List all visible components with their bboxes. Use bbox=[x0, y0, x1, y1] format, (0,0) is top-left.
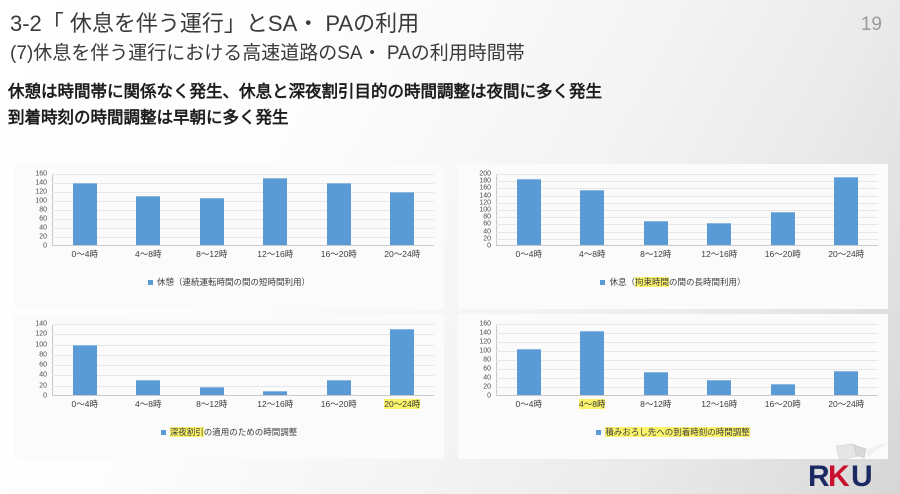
y-tick-label: 140 bbox=[35, 321, 47, 328]
x-tick-label: 4～8時 bbox=[561, 248, 625, 260]
page-subtitle: (7)休息を伴う運行における高速道路のSA・ PAの利用時間帯 bbox=[10, 38, 525, 65]
y-tick-label: 20 bbox=[483, 235, 491, 242]
bar[interactable] bbox=[580, 190, 604, 245]
chart-top-left-plot-area bbox=[52, 174, 434, 246]
y-tick-label: 100 bbox=[479, 348, 491, 355]
page-number: 19 bbox=[861, 14, 882, 36]
chart-bottom-left-legend: 深夜割引の適用のための時間調整 bbox=[14, 426, 444, 438]
y-tick-label: 80 bbox=[483, 357, 491, 364]
x-tick-label: 20～24時 bbox=[371, 398, 435, 410]
y-tick-label: 60 bbox=[39, 362, 47, 369]
chart-bottom-right: 1601401201008060402000～4時4～8時8～12時12～16時… bbox=[458, 314, 888, 459]
bar[interactable] bbox=[390, 192, 414, 245]
svg-text:K: K bbox=[828, 460, 850, 492]
bar[interactable] bbox=[327, 380, 351, 395]
x-tick-label: 0～4時 bbox=[53, 248, 117, 260]
x-tick-label: 0～4時 bbox=[497, 248, 561, 260]
x-axis-line bbox=[496, 245, 878, 246]
chart-top-left-bars bbox=[53, 174, 434, 245]
bar[interactable] bbox=[136, 196, 160, 245]
y-tick-label: 160 bbox=[479, 185, 491, 192]
chart-top-left-x-axis: 0～4時4～8時8～12時12～16時16～20時20～24時 bbox=[53, 248, 434, 260]
x-tick-label: 16～20時 bbox=[307, 398, 371, 410]
chart-bottom-right-bars bbox=[497, 324, 878, 395]
bar[interactable] bbox=[73, 345, 97, 395]
x-tick-label: 0～4時 bbox=[497, 398, 561, 410]
x-tick-label: 0～4時 bbox=[53, 398, 117, 410]
bar-slot bbox=[815, 174, 879, 245]
legend-swatch-icon bbox=[596, 430, 601, 435]
y-tick-label: 0 bbox=[487, 393, 491, 400]
page-title: 3-2「 休息を伴う運行」とSA・ PAの利用 bbox=[10, 6, 419, 38]
chart-panel-bottom-left: 1401201008060402000～4時4～8時8～12時12～16時16～… bbox=[14, 314, 444, 459]
bar-slot bbox=[307, 324, 371, 395]
bar-slot bbox=[497, 324, 561, 395]
chart-bottom-right-x-axis: 0～4時4～8時8～12時12～16時16～20時20～24時 bbox=[497, 398, 878, 410]
chart-top-right-plot-area bbox=[496, 174, 878, 246]
legend-label: 積みおろし先への到着時刻の時間調整 bbox=[605, 426, 750, 438]
y-tick-label: 140 bbox=[479, 330, 491, 337]
bar-slot bbox=[244, 174, 308, 245]
rku-logo: R K U bbox=[806, 442, 894, 492]
x-axis-line bbox=[52, 395, 434, 396]
chart-bottom-right-y-axis: 160140120100806040200 bbox=[460, 324, 494, 396]
chart-bottom-left: 1401201008060402000～4時4～8時8～12時12～16時16～… bbox=[14, 314, 444, 459]
x-tick-label: 12～16時 bbox=[244, 248, 308, 260]
y-tick-label: 40 bbox=[39, 372, 47, 379]
chart-top-right: 2001801601401201008060402000～4時4～8時8～12時… bbox=[458, 164, 888, 309]
bar[interactable] bbox=[263, 391, 287, 395]
chart-top-left-legend: 休憩（連続運転時間の間の短時間利用） bbox=[14, 276, 444, 288]
x-tick-label: 12～16時 bbox=[688, 398, 752, 410]
y-tick-label: 100 bbox=[35, 341, 47, 348]
bar[interactable] bbox=[73, 183, 97, 245]
svg-text:R: R bbox=[808, 460, 830, 492]
bar[interactable] bbox=[136, 380, 160, 395]
svg-text:U: U bbox=[851, 460, 873, 492]
y-tick-label: 20 bbox=[483, 384, 491, 391]
bar-slot bbox=[371, 174, 435, 245]
bar-slot bbox=[53, 174, 117, 245]
bar[interactable] bbox=[263, 178, 287, 245]
y-tick-label: 0 bbox=[43, 393, 47, 400]
bar-slot bbox=[624, 324, 688, 395]
chart-panel-top-right: 2001801601401201008060402000～4時4～8時8～12時… bbox=[458, 164, 888, 309]
legend-swatch-icon bbox=[148, 280, 153, 285]
x-tick-label: 8～12時 bbox=[180, 398, 244, 410]
chart-bottom-left-y-axis: 140120100806040200 bbox=[16, 324, 50, 396]
x-tick-label: 8～12時 bbox=[624, 248, 688, 260]
y-tick-label: 180 bbox=[479, 178, 491, 185]
x-tick-label: 8～12時 bbox=[624, 398, 688, 410]
bar-slot bbox=[497, 174, 561, 245]
y-tick-label: 100 bbox=[479, 207, 491, 214]
chart-bottom-left-bars bbox=[53, 324, 434, 395]
bar[interactable] bbox=[390, 329, 414, 395]
y-tick-label: 120 bbox=[35, 189, 47, 196]
bar-slot bbox=[117, 324, 181, 395]
y-tick-label: 20 bbox=[39, 234, 47, 241]
chart-top-right-x-axis: 0～4時4～8時8～12時12～16時16～20時20～24時 bbox=[497, 248, 878, 260]
y-tick-label: 80 bbox=[39, 351, 47, 358]
chart-bottom-right-legend: 積みおろし先への到着時刻の時間調整 bbox=[458, 426, 888, 438]
bar[interactable] bbox=[200, 198, 224, 245]
bar[interactable] bbox=[834, 371, 858, 395]
y-tick-label: 40 bbox=[39, 225, 47, 232]
bar[interactable] bbox=[834, 177, 858, 245]
legend-label: 休憩（連続運転時間の間の短時間利用） bbox=[157, 276, 310, 288]
slide-canvas: 3-2「 休息を伴う運行」とSA・ PAの利用 (7)休息を伴う運行における高速… bbox=[0, 0, 900, 494]
bar[interactable] bbox=[644, 372, 668, 396]
y-tick-label: 100 bbox=[35, 198, 47, 205]
x-tick-label: 8～12時 bbox=[180, 248, 244, 260]
chart-top-right-bars bbox=[497, 174, 878, 245]
x-tick-label: 16～20時 bbox=[751, 398, 815, 410]
x-tick-label: 4～8時 bbox=[561, 398, 625, 410]
x-tick-label: 16～20時 bbox=[751, 248, 815, 260]
x-tick-label: 12～16時 bbox=[244, 398, 308, 410]
bar[interactable] bbox=[200, 387, 224, 395]
bar[interactable] bbox=[327, 183, 351, 245]
legend-swatch-icon bbox=[161, 430, 166, 435]
bar-slot bbox=[561, 324, 625, 395]
bar[interactable] bbox=[517, 179, 541, 245]
bar[interactable] bbox=[644, 221, 668, 245]
y-tick-label: 60 bbox=[39, 216, 47, 223]
chart-panel-top-left: 1601401201008060402000～4時4～8時8～12時12～16時… bbox=[14, 164, 444, 309]
x-tick-label: 20～24時 bbox=[815, 398, 879, 410]
chart-top-left: 1601401201008060402000～4時4～8時8～12時12～16時… bbox=[14, 164, 444, 309]
lead-text-line-1: 休憩は時間帯に関係なく発生、休息と深夜割引目的の時間調整は夜間に多く発生 bbox=[8, 78, 602, 102]
y-tick-label: 160 bbox=[479, 321, 491, 328]
y-tick-label: 120 bbox=[479, 339, 491, 346]
y-tick-label: 40 bbox=[483, 375, 491, 382]
bar-slot bbox=[371, 324, 435, 395]
y-tick-label: 20 bbox=[39, 382, 47, 389]
bar-slot bbox=[244, 324, 308, 395]
lead-text-line-2: 到着時刻の時間調整は早朝に多く発生 bbox=[8, 104, 289, 128]
bar-slot bbox=[53, 324, 117, 395]
x-tick-label: 20～24時 bbox=[815, 248, 879, 260]
bar-slot bbox=[688, 324, 752, 395]
chart-bottom-left-plot-area bbox=[52, 324, 434, 396]
x-tick-label: 4～8時 bbox=[117, 248, 181, 260]
chart-top-right-y-axis: 200180160140120100806040200 bbox=[460, 174, 494, 246]
legend-label: 深夜割引の適用のための時間調整 bbox=[170, 426, 298, 438]
chart-bottom-right-plot-area bbox=[496, 324, 878, 396]
bar-slot bbox=[307, 174, 371, 245]
y-tick-label: 200 bbox=[479, 171, 491, 178]
bar[interactable] bbox=[707, 380, 731, 395]
chart-top-right-legend: 休息（拘束時間の間の長時間利用） bbox=[458, 276, 888, 288]
bar[interactable] bbox=[771, 384, 795, 395]
bar-slot bbox=[815, 324, 879, 395]
x-axis-line bbox=[496, 395, 878, 396]
x-tick-label: 12～16時 bbox=[688, 248, 752, 260]
y-tick-label: 160 bbox=[35, 171, 47, 178]
y-tick-label: 80 bbox=[483, 214, 491, 221]
y-tick-label: 140 bbox=[479, 192, 491, 199]
y-tick-label: 60 bbox=[483, 221, 491, 228]
y-tick-label: 140 bbox=[35, 180, 47, 187]
bar[interactable] bbox=[771, 212, 795, 245]
y-tick-label: 80 bbox=[39, 207, 47, 214]
chart-panel-bottom-right: 1601401201008060402000～4時4～8時8～12時12～16時… bbox=[458, 314, 888, 459]
x-axis-line bbox=[52, 245, 434, 246]
legend-label: 休息（拘束時間の間の長時間利用） bbox=[609, 276, 745, 288]
y-tick-label: 0 bbox=[487, 243, 491, 250]
y-tick-label: 60 bbox=[483, 366, 491, 373]
x-tick-label: 16～20時 bbox=[307, 248, 371, 260]
y-tick-label: 120 bbox=[479, 199, 491, 206]
bar-slot bbox=[180, 324, 244, 395]
bar-slot bbox=[751, 174, 815, 245]
bar[interactable] bbox=[580, 331, 604, 395]
bar-slot bbox=[180, 174, 244, 245]
bar[interactable] bbox=[707, 223, 731, 245]
y-tick-label: 0 bbox=[43, 243, 47, 250]
bar-slot bbox=[561, 174, 625, 245]
bar-slot bbox=[688, 174, 752, 245]
bar[interactable] bbox=[517, 349, 541, 395]
y-tick-label: 120 bbox=[35, 331, 47, 338]
chart-bottom-left-x-axis: 0～4時4～8時8～12時12～16時16～20時20～24時 bbox=[53, 398, 434, 410]
y-tick-label: 40 bbox=[483, 228, 491, 235]
chart-top-left-y-axis: 160140120100806040200 bbox=[16, 174, 50, 246]
bar-slot bbox=[751, 324, 815, 395]
bar-slot bbox=[117, 174, 181, 245]
bar-slot bbox=[624, 174, 688, 245]
x-tick-label: 4～8時 bbox=[117, 398, 181, 410]
x-tick-label: 20～24時 bbox=[371, 248, 435, 260]
legend-swatch-icon bbox=[600, 280, 605, 285]
